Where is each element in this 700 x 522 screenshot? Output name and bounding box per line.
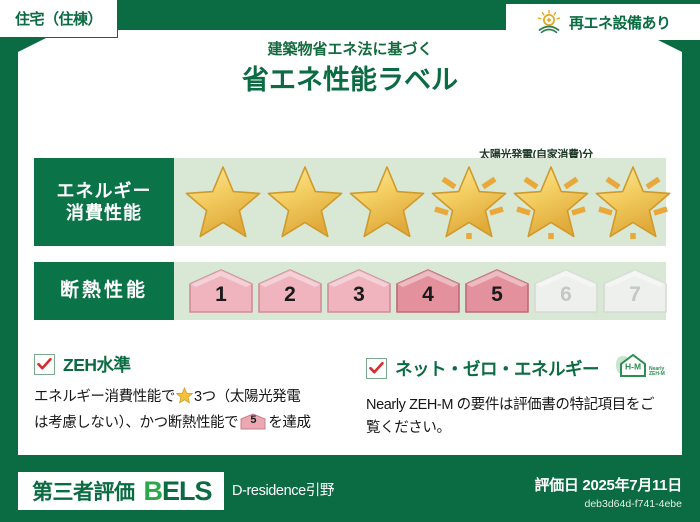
- star-icon: [592, 163, 674, 241]
- nearly-zeh-m-logo-icon: H-M Nearly ZEH-M: [613, 352, 667, 385]
- insulation-scale-track: 1234567: [174, 262, 666, 320]
- insulation-level-value: 4: [422, 283, 434, 314]
- energy-star-5: [510, 163, 592, 241]
- energy-star-4: [428, 163, 510, 241]
- zeh-section: ZEH水準 エネルギー消費性能で3つ（太陽光発電は考慮しない）、かつ断熱性能で5…: [34, 352, 334, 436]
- energy-star-2: [264, 163, 346, 241]
- insulation-level-value: 3: [353, 283, 365, 314]
- insulation-level-1: 1: [188, 268, 254, 314]
- zeh-text-part2: 3つ（太陽光発電: [194, 389, 300, 405]
- insulation-level-3: 3: [326, 268, 392, 314]
- net-zero-description: Nearly ZEH-M の要件は評価書の特記項目をご覧ください。: [366, 394, 666, 441]
- energy-star-6: [592, 163, 674, 241]
- zeh-check-icon: [34, 354, 55, 375]
- svg-text:ZEH-M: ZEH-M: [649, 371, 665, 377]
- net-zero-title: ネット・ゼロ・エネルギー: [395, 356, 599, 381]
- net-zero-section: ネット・ゼロ・エネルギー H-M Nearly ZEH-M Nearly ZEH…: [366, 352, 666, 441]
- energy-star-3: [346, 163, 428, 241]
- zeh-title: ZEH水準: [63, 352, 131, 377]
- star-icon: [510, 163, 592, 241]
- project-name: D-residence引野: [232, 479, 334, 500]
- document-id: deb3d64d-f741-4ebe: [534, 498, 682, 510]
- footer-meta: 評価日 2025年7月11日 deb3d64d-f741-4ebe: [534, 474, 682, 510]
- insulation-level-value: 7: [629, 283, 641, 314]
- third-party-label: 第三者評価: [32, 476, 135, 506]
- insulation-level-value: 1: [215, 283, 227, 314]
- inline-badge-value: 5: [240, 413, 266, 430]
- insulation-level-strip: 1234567: [174, 262, 666, 320]
- bels-logo-els: ELS: [162, 476, 212, 506]
- energy-performance-row: エネルギー 消費性能: [34, 158, 666, 246]
- net-zero-check-icon: [366, 358, 387, 379]
- inline-star-icon: [176, 387, 193, 412]
- bels-footer-badge: 第三者評価 BELS: [18, 472, 224, 510]
- zeh-description: エネルギー消費性能で3つ（太陽光発電は考慮しない）、かつ断熱性能で5を達成: [34, 386, 334, 436]
- bels-logo-b: B: [144, 476, 163, 506]
- energy-star-1: [182, 163, 264, 241]
- insulation-level-value: 2: [284, 283, 296, 314]
- house-type-tag: 住宅（住棟）: [0, 0, 118, 38]
- star-icon: [182, 163, 264, 241]
- energy-label-line1: エネルギー: [57, 180, 152, 203]
- zeh-text-part4: を達成: [268, 415, 310, 431]
- energy-label-root: 住宅（住棟） 再エネ設備あり 建築物省エネ法に基づく 省エネ性能ラベル: [0, 0, 700, 522]
- zeh-text-part1: エネルギー消費性能で: [34, 389, 175, 405]
- evaluation-date: 評価日 2025年7月11日: [534, 474, 682, 495]
- insulation-level-7: 7: [602, 268, 668, 314]
- inline-insulation-badge: 5: [240, 413, 266, 430]
- svg-text:H-M: H-M: [625, 362, 641, 372]
- label-subtitle: 建築物省エネ法に基づく: [0, 38, 700, 59]
- energy-label-line2: 消費性能: [66, 202, 142, 225]
- star-icon: [264, 163, 346, 241]
- insulation-level-value: 6: [560, 283, 572, 314]
- insulation-level-4: 4: [395, 268, 461, 314]
- zeh-heading: ZEH水準: [34, 352, 334, 377]
- renewable-badge-label: 再エネ設備あり: [569, 12, 671, 33]
- zeh-text-part3: は考慮しない）、かつ断熱性能で: [34, 415, 238, 431]
- star-icon: [346, 163, 428, 241]
- energy-performance-label: エネルギー 消費性能: [34, 158, 174, 246]
- insulation-level-2: 2: [257, 268, 323, 314]
- energy-star-track: [174, 158, 666, 246]
- insulation-level-6: 6: [533, 268, 599, 314]
- insulation-performance-label: 断熱性能: [34, 262, 174, 320]
- insulation-level-5: 5: [464, 268, 530, 314]
- house-type-label: 住宅（住棟）: [15, 8, 102, 29]
- insulation-level-value: 5: [491, 283, 503, 314]
- insulation-performance-row: 断熱性能 1234567: [34, 262, 666, 320]
- renewable-energy-badge: 再エネ設備あり: [506, 4, 700, 40]
- bels-logo: BELS: [144, 476, 212, 507]
- star-icon: [428, 163, 510, 241]
- label-title: 省エネ性能ラベル: [0, 58, 700, 97]
- star-strip: [174, 158, 666, 246]
- solar-sun-icon: [536, 9, 562, 35]
- insulation-label-text: 断熱性能: [60, 279, 148, 303]
- net-zero-heading: ネット・ゼロ・エネルギー H-M Nearly ZEH-M: [366, 352, 666, 385]
